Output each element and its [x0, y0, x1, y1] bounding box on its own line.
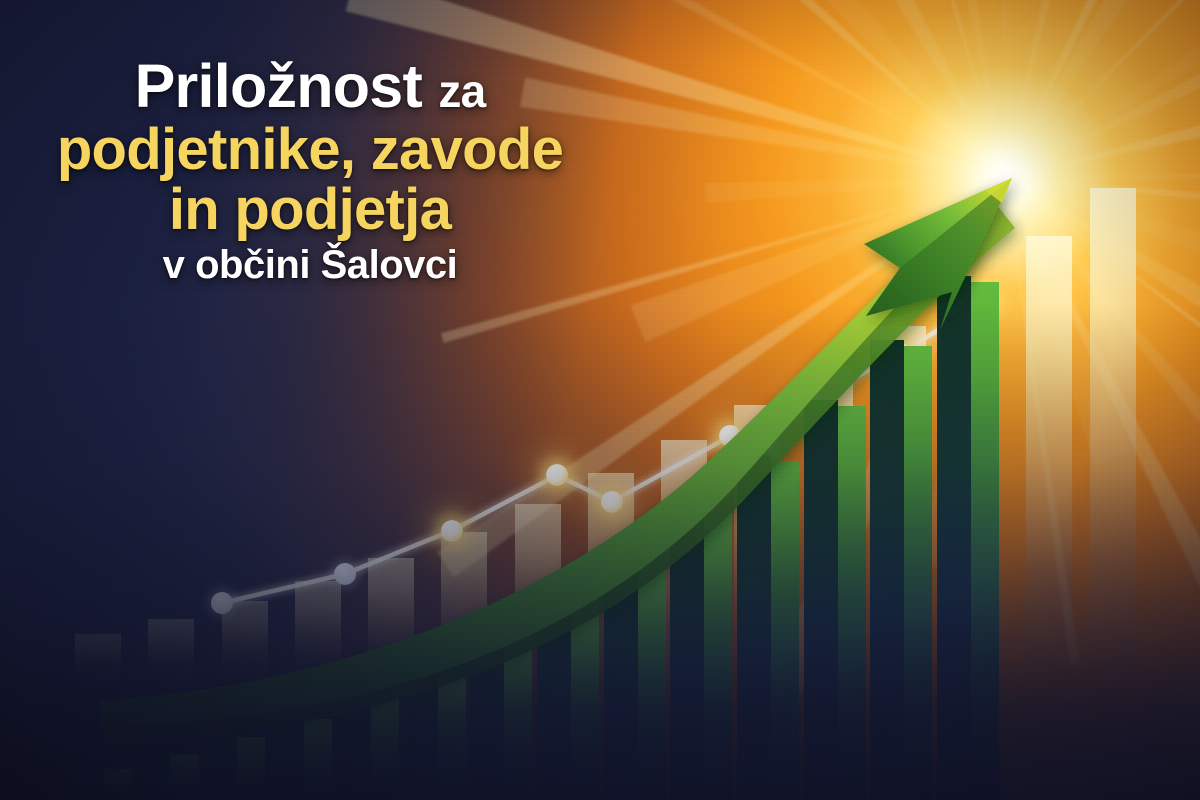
headline-line-4: v občini Šalovci — [0, 245, 620, 285]
poster-canvas: Priložnost za podjetnike, zavode in podj… — [0, 0, 1200, 800]
headline-block: Priložnost za podjetnike, zavode in podj… — [0, 56, 620, 285]
headline-line-1-suffix: za — [438, 65, 485, 117]
headline-line-3: in podjetja — [0, 181, 620, 239]
headline-main-word: Priložnost — [135, 52, 423, 120]
headline-line-1: Priložnost za — [0, 56, 620, 117]
headline-line-2: podjetnike, zavode — [0, 121, 620, 179]
